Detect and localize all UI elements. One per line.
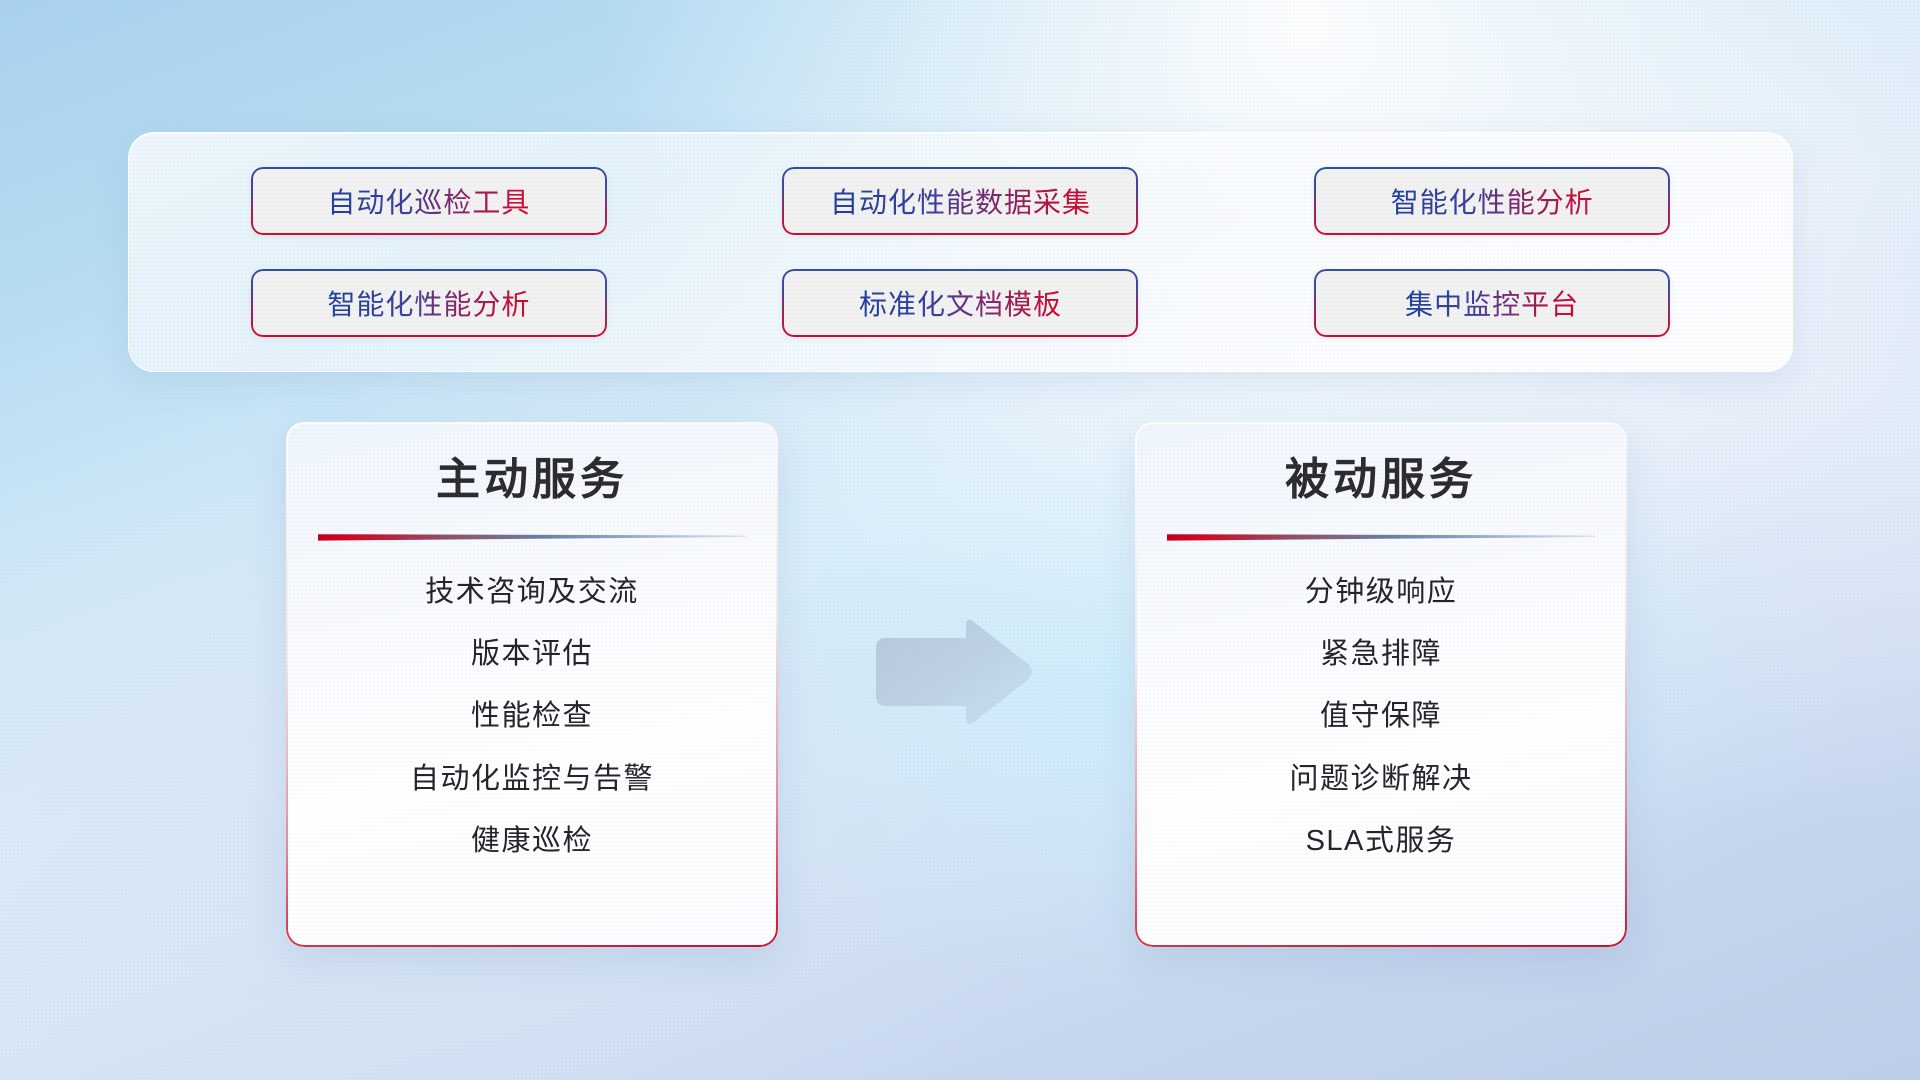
- capability-panel: 自动化巡检工具 自动化性能数据采集 智能化性能分析 智能化性能分析 标准化文档模…: [128, 132, 1793, 372]
- service-item-list: 分钟级响应 紧急排障 值守保障 问题诊断解决 SLA式服务: [1135, 541, 1627, 861]
- capability-pill-label: 集中监控平台: [1405, 283, 1579, 323]
- capability-pill-label: 自动化性能数据采集: [830, 181, 1091, 221]
- capability-pill-label: 标准化文档模板: [859, 283, 1062, 323]
- capability-pill-label: 自动化巡检工具: [327, 181, 530, 221]
- capability-pill-1[interactable]: 自动化巡检工具: [251, 167, 607, 235]
- service-item-list: 技术咨询及交流 版本评估 性能检查 自动化监控与告警 健康巡检: [286, 541, 778, 861]
- slide-canvas: 自动化巡检工具 自动化性能数据采集 智能化性能分析 智能化性能分析 标准化文档模…: [0, 0, 1920, 1080]
- right-arrow-icon: [868, 612, 1036, 734]
- card-divider-accent: [1167, 532, 1595, 541]
- capability-pill-4[interactable]: 智能化性能分析: [251, 269, 607, 337]
- capability-pill-label: 智能化性能分析: [327, 283, 530, 323]
- capability-pill-2[interactable]: 自动化性能数据采集: [782, 167, 1138, 235]
- service-list-item: 问题诊断解决: [1289, 758, 1472, 800]
- service-card-proactive: 主动服务: [286, 422, 778, 947]
- card-title: 被动服务: [1285, 456, 1477, 504]
- service-list-item: 性能检查: [471, 695, 593, 737]
- service-list-item: 技术咨询及交流: [425, 571, 639, 613]
- card-divider-accent: [318, 532, 746, 541]
- capability-pill-label: 智能化性能分析: [1391, 181, 1594, 221]
- capability-pill-3[interactable]: 智能化性能分析: [1314, 167, 1670, 235]
- service-list-item: 分钟级响应: [1305, 571, 1458, 613]
- service-list-item: 健康巡检: [471, 820, 593, 862]
- service-list-item: 紧急排障: [1320, 633, 1442, 675]
- service-list-item: SLA式服务: [1306, 820, 1457, 862]
- service-card-reactive: 被动服务: [1135, 422, 1627, 947]
- capability-pill-5[interactable]: 标准化文档模板: [782, 269, 1138, 337]
- capability-pill-6[interactable]: 集中监控平台: [1314, 269, 1670, 337]
- service-list-item: 自动化监控与告警: [410, 758, 654, 800]
- card-title: 主动服务: [436, 456, 628, 504]
- service-list-item: 值守保障: [1320, 695, 1442, 737]
- service-list-item: 版本评估: [471, 633, 593, 675]
